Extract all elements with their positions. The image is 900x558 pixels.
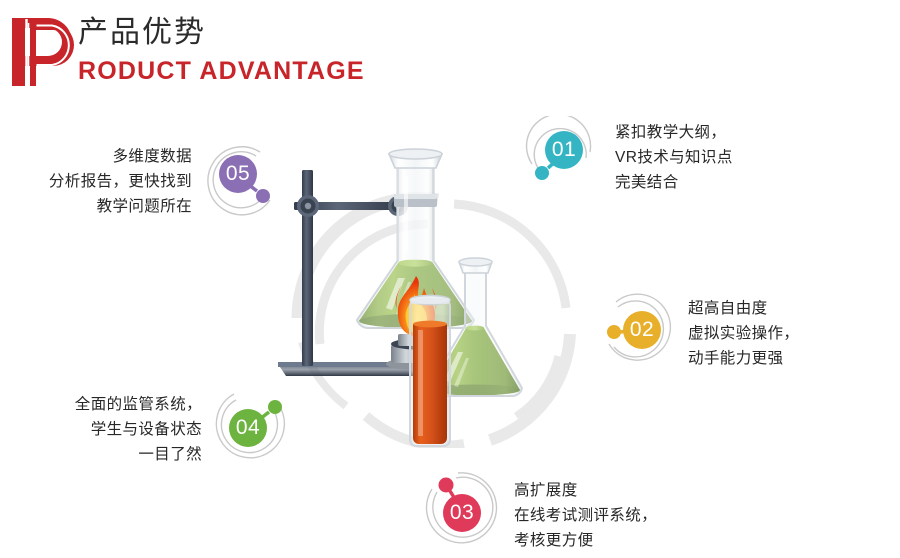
advantage-item-04[interactable]: 全面的监管系统， 学生与设备状态 一目了然 04 [40, 388, 290, 467]
advantage-text-04: 全面的监管系统， 学生与设备状态 一目了然 [75, 392, 202, 467]
badge-05[interactable]: 05 [204, 140, 280, 216]
advantage-item-02[interactable]: 02 超高自由度 虚拟实验操作， 动手能力更强 [600, 292, 799, 371]
test-tube-orange [410, 295, 450, 446]
advantage-item-01[interactable]: 01 紧扣教学大纲， VR技术与知识点 完美结合 [524, 116, 733, 195]
advantage-text-03: 高扩展度 在线考试测评系统， 考核更方便 [514, 478, 657, 553]
header-title-group: 产品优势 RODUCT ADVANTAGE [78, 14, 365, 87]
advantage-item-03[interactable]: 03 高扩展度 在线考试测评系统， 考核更方便 [424, 470, 657, 553]
badge-04[interactable]: 04 [214, 388, 290, 464]
advantage-item-05[interactable]: 多维度数据 分析报告，更快找到 教学问题所在 05 [10, 140, 280, 219]
page-header: 产品优势 RODUCT ADVANTAGE [0, 0, 900, 100]
page-title-cn: 产品优势 [78, 14, 365, 52]
badge-03[interactable]: 03 [424, 470, 500, 546]
page-title-en: RODUCT ADVANTAGE [78, 55, 365, 87]
advantage-text-05: 多维度数据 分析报告，更快找到 教学问题所在 [49, 144, 192, 219]
advantage-text-02: 超高自由度 虚拟实验操作， 动手能力更强 [688, 296, 799, 371]
product-advantage-infographic: 产品优势 RODUCT ADVANTAGE [0, 0, 900, 558]
advantage-text-01: 紧扣教学大纲， VR技术与知识点 完美结合 [615, 120, 733, 195]
logo-p-icon [8, 12, 78, 90]
badge-01[interactable]: 01 [524, 116, 600, 192]
badge-02[interactable]: 02 [600, 292, 676, 368]
